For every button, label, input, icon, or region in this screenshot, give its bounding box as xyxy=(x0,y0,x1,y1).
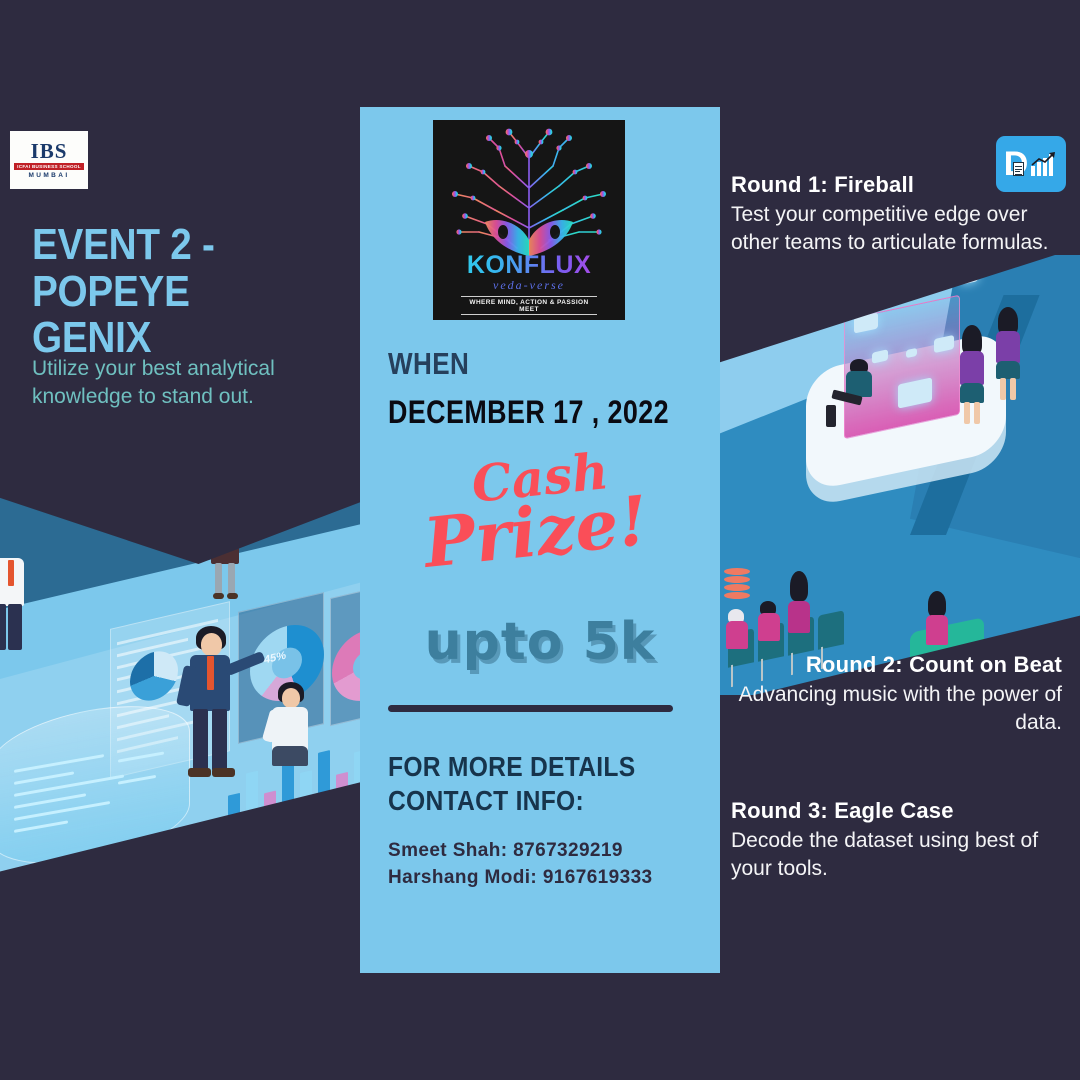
round-2-heading: Round 2: Count on Beat xyxy=(732,652,1062,678)
round-3-body: Decode the dataset using best of your to… xyxy=(731,827,1061,882)
ibs-city: MUMBAI xyxy=(28,172,69,179)
event-date: DECEMBER 17 , 2022 xyxy=(388,394,669,431)
stacked-tokens xyxy=(724,567,754,599)
ibs-band: ICFAI BUSINESS SCHOOL xyxy=(14,163,84,171)
page-title-line-2: POPEYE GENIX xyxy=(32,269,305,362)
page-subtitle: Utilize your best analytical knowledge t… xyxy=(32,355,332,410)
round-1-heading: Round 1: Fireball xyxy=(731,172,1061,198)
prize-amount: upto 5k xyxy=(360,612,720,672)
ibs-mark: IBS xyxy=(31,141,68,162)
peacock-circuit-feathers-icon xyxy=(439,128,619,263)
contact-item: Smeet Shah: 8767329219 xyxy=(388,838,653,865)
contact-heading-line-1: FOR MORE DETAILS xyxy=(388,750,635,784)
contact-heading: FOR MORE DETAILS CONTACT INFO: xyxy=(388,750,635,818)
contact-item: Harshang Modi: 9167619333 xyxy=(388,865,653,892)
section-divider xyxy=(388,705,673,712)
left-illustration: 45% xyxy=(0,430,370,910)
round-3-heading: Round 3: Eagle Case xyxy=(731,798,1061,824)
konflux-strapline: WHERE MIND, ACTION & PASSION MEET xyxy=(461,296,597,315)
konflux-logo: KONFLUX veda-verse WHERE MIND, ACTION & … xyxy=(433,120,625,320)
contact-list: Smeet Shah: 8767329219 Harshang Modi: 91… xyxy=(388,838,653,892)
round-2: Round 2: Count on Beat Advancing music w… xyxy=(732,652,1062,736)
konflux-wordmark: KONFLUX xyxy=(433,251,625,280)
page-title-line-1: EVENT 2 - xyxy=(32,222,305,269)
event-poster: 45% xyxy=(0,0,1080,1080)
right-illustration xyxy=(720,255,1080,695)
konflux-tagline: veda-verse xyxy=(433,278,625,293)
page-title: EVENT 2 - POPEYE GENIX xyxy=(32,222,305,362)
contact-heading-line-2: CONTACT INFO: xyxy=(388,784,635,818)
round-1: Round 1: Fireball Test your competitive … xyxy=(731,172,1061,256)
round-1-body: Test your competitive edge over other te… xyxy=(731,201,1061,256)
round-3: Round 3: Eagle Case Decode the dataset u… xyxy=(731,798,1061,882)
ibs-logo: IBS ICFAI BUSINESS SCHOOL MUMBAI xyxy=(10,131,88,189)
round-2-body: Advancing music with the power of data. xyxy=(732,681,1062,736)
when-label: WHEN xyxy=(388,346,469,382)
cash-prize-heading: Cash Prize! xyxy=(360,455,720,564)
